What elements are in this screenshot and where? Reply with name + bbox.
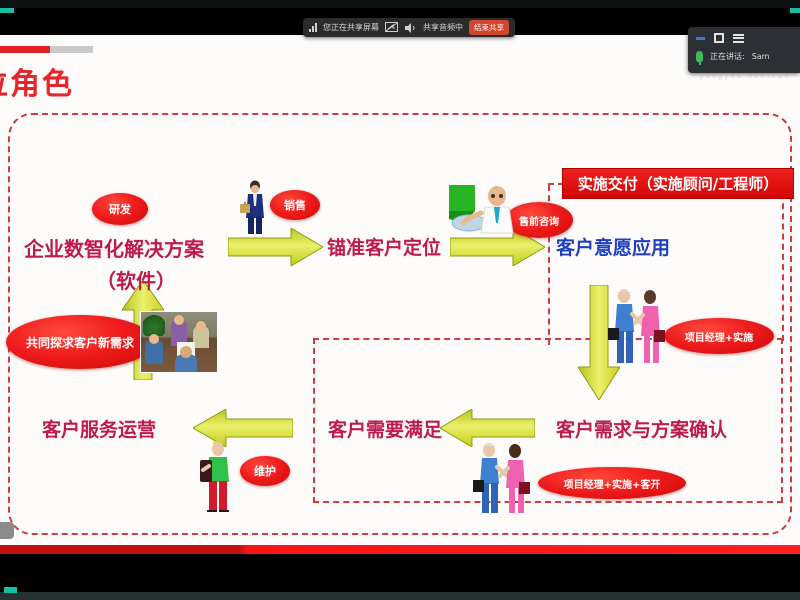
speaker-panel[interactable]: 正在讲话: Sam: [688, 27, 800, 73]
stage-label-service-ops: 客户服务运营: [42, 415, 156, 442]
slide-watermark: yongyou nonthan: [700, 74, 791, 80]
minimize-icon[interactable]: [696, 37, 705, 40]
stage-label-solution-sub: （软件）: [96, 265, 176, 294]
desktop-taskbar: [0, 592, 800, 600]
stage-label-positioning: 锚准客户定位: [327, 233, 441, 260]
sharing-status-label: 您正在共享屏幕: [323, 22, 379, 33]
slide-bottom-red-strip: [0, 545, 800, 554]
desktop-bottom-black: [0, 554, 800, 592]
teal-marker-bottom: [4, 587, 17, 593]
role-badge-explore: 共同探求客户新需求: [6, 315, 154, 369]
role-badge-rd: 研发: [92, 193, 148, 225]
consultant-figure: [447, 183, 523, 244]
implementation-dashed-right: [782, 183, 784, 341]
implementation-delivery-box: 实施交付（实施顾问/工程师）: [562, 168, 794, 199]
businessman-figure: [238, 180, 272, 240]
meeting-photo: [140, 311, 218, 373]
screen-share-icon[interactable]: [385, 22, 398, 33]
stage-label-requirement: 客户需求与方案确认: [556, 415, 727, 442]
microphone-icon[interactable]: [696, 51, 703, 62]
screen-share-toolbar[interactable]: 您正在共享屏幕 共享音频中 结束共享: [303, 18, 515, 37]
role-badge-pm-impl: 项目经理+实施: [664, 318, 774, 354]
menu-icon[interactable]: [733, 34, 744, 43]
title-accent-gray: [50, 46, 93, 53]
handshake-figures-right: [608, 288, 666, 369]
screen-root: 位角色: [0, 0, 800, 600]
end-share-button[interactable]: 结束共享: [469, 20, 509, 35]
slide-left-tab[interactable]: [0, 522, 14, 539]
stage-label-customer-will: 客户意愿应用: [556, 233, 670, 260]
speaker-name: Sam: [752, 52, 770, 61]
desktop-top-strip: [0, 0, 800, 8]
stage-label-satisfy: 客户需要满足: [328, 415, 442, 442]
speaking-label: 正在讲话:: [710, 51, 745, 62]
role-badge-sales: 销售: [270, 190, 320, 220]
speaking-row: 正在讲话: Sam: [696, 51, 769, 62]
engineer-figure: [196, 440, 236, 517]
presentation-slide: 位角色: [0, 35, 800, 545]
speaker-icon[interactable]: [404, 23, 417, 33]
window-controls: [696, 33, 744, 43]
maximize-icon[interactable]: [714, 33, 724, 43]
stage-label-solution: 企业数智化解决方案: [24, 233, 204, 262]
audio-share-label: 共享音频中: [423, 22, 463, 33]
title-accent-red: [0, 46, 50, 53]
page-title: 位角色: [0, 59, 74, 103]
handshake-figures-bottom: [473, 442, 531, 519]
role-badge-maintain: 维护: [240, 456, 290, 486]
signal-bars-icon: [309, 23, 317, 32]
role-badge-pm-impl-dev: 项目经理+实施+客开: [538, 467, 686, 499]
